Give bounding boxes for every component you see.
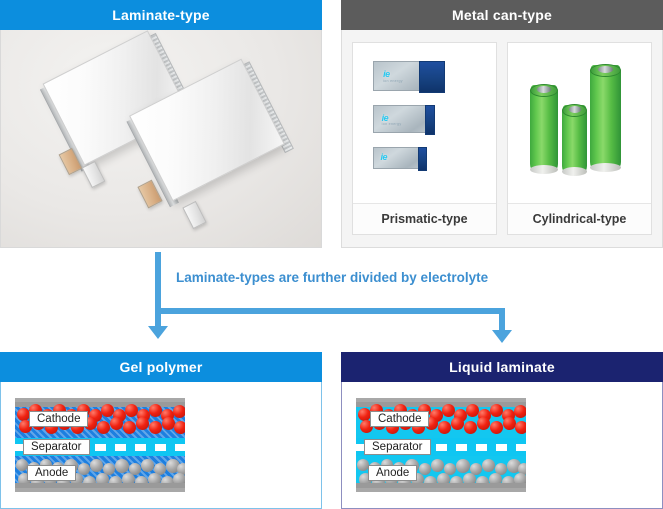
anode-current-collector xyxy=(15,483,185,488)
label-anode: Anode xyxy=(368,465,417,481)
arrowhead-left xyxy=(148,326,168,339)
label-cathode: Cathode xyxy=(370,411,429,427)
arrow-stem-vertical xyxy=(155,252,161,326)
cyl-bottom xyxy=(562,167,587,176)
prismatic-terminal xyxy=(419,61,445,93)
arrowhead-right xyxy=(492,330,512,343)
cyl-can xyxy=(530,85,558,171)
panel-laminate-title: Laminate-type xyxy=(0,0,322,30)
arrow-stem-right xyxy=(499,308,505,330)
label-separator: Separator xyxy=(364,439,431,455)
panel-liquid-body: Cathode Separator Anode Electrolytes xyxy=(341,382,663,509)
gel-cell-cross-section: Cathode Separator Anode xyxy=(15,398,185,492)
label-cathode: Cathode xyxy=(29,411,88,427)
connector-note: Laminate-types are further divided by el… xyxy=(176,270,488,285)
panel-gel-body: Cathode Separator Anode Gel electrolytes xyxy=(0,382,322,509)
panel-metal-body: ie ion energy ie ion energy ie Prismatic… xyxy=(341,30,663,248)
label-anode: Anode xyxy=(27,465,76,481)
panel-gel-polymer: Gel polymer xyxy=(0,352,322,509)
subcard-cylindrical: Cylindrical-type xyxy=(507,42,652,235)
label-separator: Separator xyxy=(23,439,90,455)
cyl-bottom xyxy=(590,163,621,172)
pouch-tab-silver-front xyxy=(182,201,206,229)
prismatic-cell-large: ie ion energy xyxy=(373,61,445,91)
ie-logo: ie xyxy=(381,152,388,162)
panel-metal-can-type: Metal can-type ie ion energy ie ion ener… xyxy=(341,0,663,248)
arrow-branch-horizontal xyxy=(155,308,505,314)
liquid-cell-cross-section: Cathode Separator Anode xyxy=(356,398,526,492)
cyl-bottom xyxy=(530,165,558,174)
panel-liquid-title: Liquid laminate xyxy=(341,352,663,382)
prismatic-cell-small: ie xyxy=(373,147,427,169)
cyl-cap xyxy=(537,86,550,93)
prismatic-terminal xyxy=(418,147,427,171)
cylindrical-cell-small xyxy=(562,105,587,173)
cyl-cap xyxy=(569,106,581,113)
panel-gel-title: Gel polymer xyxy=(0,352,322,382)
pouch-tab-silver-back xyxy=(82,161,106,188)
prismatic-cells-photo: ie ion energy ie ion energy ie xyxy=(357,47,492,199)
cyl-can xyxy=(590,65,621,169)
cyl-cap xyxy=(598,66,613,73)
prismatic-terminal xyxy=(425,105,435,135)
cylindrical-cell-large xyxy=(590,65,621,169)
panel-metal-title: Metal can-type xyxy=(341,0,663,30)
cylindrical-cells-photo xyxy=(512,47,647,199)
ie-sublabel: ion energy xyxy=(382,122,402,126)
connector-arrows xyxy=(0,248,663,348)
panel-liquid-laminate: Liquid laminate xyxy=(341,352,663,509)
subcard-prismatic: ie ion energy ie ion energy ie Prismatic… xyxy=(352,42,497,235)
ie-sublabel: ion energy xyxy=(383,79,403,83)
panel-laminate-image xyxy=(0,30,322,248)
cylindrical-cell-medium xyxy=(530,85,558,171)
pouch-cells-photo xyxy=(1,30,321,247)
ie-logo: ie xyxy=(383,69,390,79)
subcard-cylindrical-caption: Cylindrical-type xyxy=(508,203,651,234)
subcard-prismatic-caption: Prismatic-type xyxy=(353,203,496,234)
panel-laminate-type: Laminate-type xyxy=(0,0,322,248)
prismatic-cell-medium: ie ion energy xyxy=(373,105,435,133)
anode-current-collector xyxy=(356,483,526,488)
